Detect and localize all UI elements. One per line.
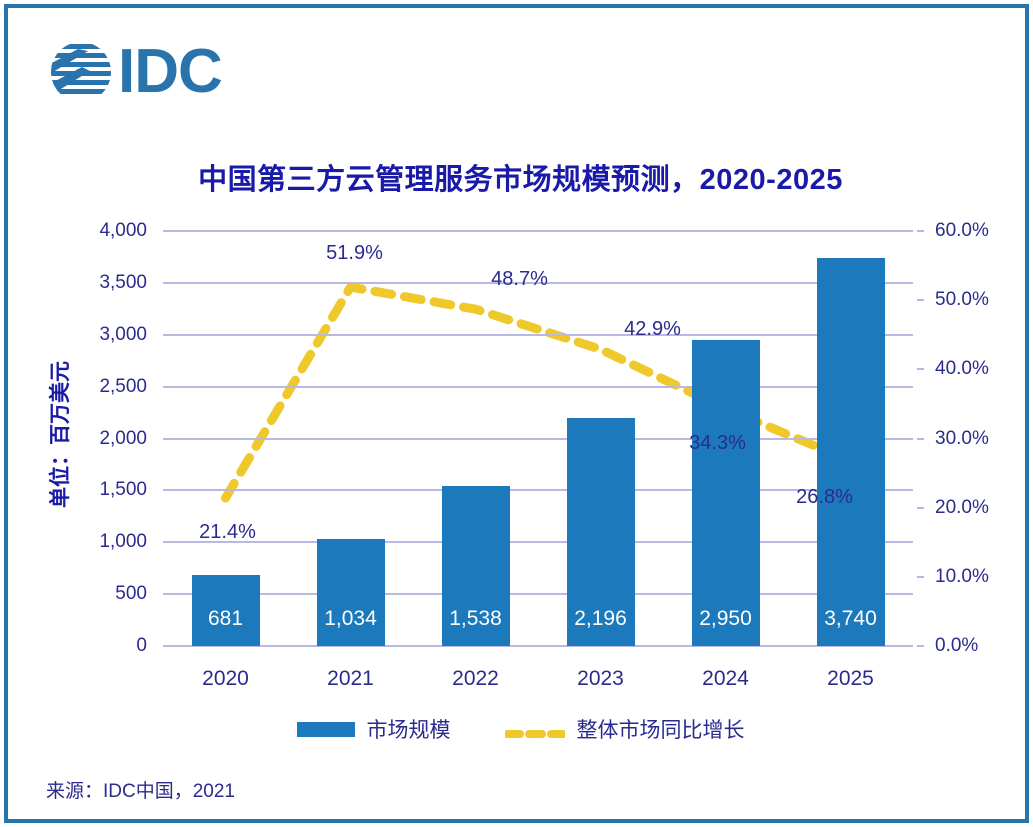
growth-value-label: 51.9% xyxy=(295,243,415,263)
bar-value-label: 681 xyxy=(166,608,286,629)
page-frame: IDC 中国第三方云管理服务市场规模预测，2020-2025 单位：百万美元 0… xyxy=(4,4,1029,823)
y2-axis-tick-label: 10.0% xyxy=(935,567,989,586)
gridline xyxy=(163,386,913,388)
legend-dashed-line-icon xyxy=(505,725,565,733)
y2-axis-tick-label: 60.0% xyxy=(935,221,989,240)
gridline xyxy=(163,334,913,336)
idc-globe-icon xyxy=(48,39,114,105)
y-axis-tick-label: 500 xyxy=(8,584,147,603)
y-axis-tick-label: 3,000 xyxy=(8,325,147,344)
bar-value-label: 2,950 xyxy=(666,608,786,629)
legend-label-growth: 整体市场同比增长 xyxy=(577,714,745,744)
growth-value-label: 48.7% xyxy=(460,269,580,289)
bar-value-label: 2,196 xyxy=(541,608,661,629)
bar-value-label: 1,538 xyxy=(416,608,536,629)
source-note: 来源：IDC中国，2021 xyxy=(46,776,235,803)
x-axis-tick-2025: 2025 xyxy=(791,668,911,689)
gridline xyxy=(163,593,913,595)
growth-value-label: 21.4% xyxy=(168,522,288,542)
legend-item-growth[interactable]: 整体市场同比增长 xyxy=(505,714,745,744)
y2-axis-tickmark xyxy=(917,230,924,232)
bar-2024[interactable] xyxy=(692,340,760,646)
chart-title: 中国第三方云管理服务市场规模预测，2020-2025 xyxy=(8,156,1033,198)
gridline xyxy=(163,438,913,440)
legend-item-market-size[interactable]: 市场规模 xyxy=(297,714,451,744)
growth-value-label: 26.8% xyxy=(765,487,885,507)
y2-axis-tick-label: 20.0% xyxy=(935,498,989,517)
x-axis-tick-2024: 2024 xyxy=(666,668,786,689)
y-axis-tick-label: 0 xyxy=(8,636,147,655)
page-inner: IDC 中国第三方云管理服务市场规模预测，2020-2025 单位：百万美元 0… xyxy=(8,8,1025,819)
idc-logo: IDC xyxy=(48,36,308,108)
bar-value-label: 3,740 xyxy=(791,608,911,629)
plot-area: 6811,0341,5382,1962,9503,74021.4%51.9%48… xyxy=(163,231,913,646)
x-axis-tick-2023: 2023 xyxy=(541,668,661,689)
y2-axis-tickmark xyxy=(917,576,924,578)
y2-axis-tick-label: 50.0% xyxy=(935,290,989,309)
y2-axis-tickmark xyxy=(917,438,924,440)
y-axis-tick-label: 3,500 xyxy=(8,273,147,292)
x-axis-tick-2020: 2020 xyxy=(166,668,286,689)
growth-value-label: 42.9% xyxy=(593,319,713,339)
y2-axis-tick-label: 30.0% xyxy=(935,429,989,448)
x-axis-tick-2022: 2022 xyxy=(416,668,536,689)
gridline xyxy=(163,645,913,647)
y2-axis-tickmark xyxy=(917,507,924,509)
y-axis-tick-label: 1,500 xyxy=(8,480,147,499)
y-axis-tick-label: 1,000 xyxy=(8,532,147,551)
gridline xyxy=(163,230,913,232)
y-axis-tick-label: 2,000 xyxy=(8,429,147,448)
y-axis-tick-label: 2,500 xyxy=(8,377,147,396)
idc-logo-text: IDC xyxy=(118,39,222,105)
chart-page: IDC 中国第三方云管理服务市场规模预测，2020-2025 单位：百万美元 0… xyxy=(0,0,1033,827)
bar-value-label: 1,034 xyxy=(291,608,411,629)
x-axis-tick-2021: 2021 xyxy=(291,668,411,689)
y2-axis-tick-label: 0.0% xyxy=(935,636,978,655)
chart-legend: 市场规模 整体市场同比增长 xyxy=(8,714,1033,744)
y2-axis-tickmark xyxy=(917,645,924,647)
bar-2025[interactable] xyxy=(817,258,885,646)
y2-axis-tick-label: 40.0% xyxy=(935,359,989,378)
y2-axis-tickmark xyxy=(917,368,924,370)
chart-area: 单位：百万美元 05001,0001,5002,0002,5003,0003,5… xyxy=(8,208,1033,708)
y2-axis-tickmark xyxy=(917,299,924,301)
y-axis-tick-label: 4,000 xyxy=(8,221,147,240)
legend-bar-swatch-icon xyxy=(297,722,355,737)
legend-label-market-size: 市场规模 xyxy=(367,714,451,744)
growth-value-label: 34.3% xyxy=(658,433,778,453)
